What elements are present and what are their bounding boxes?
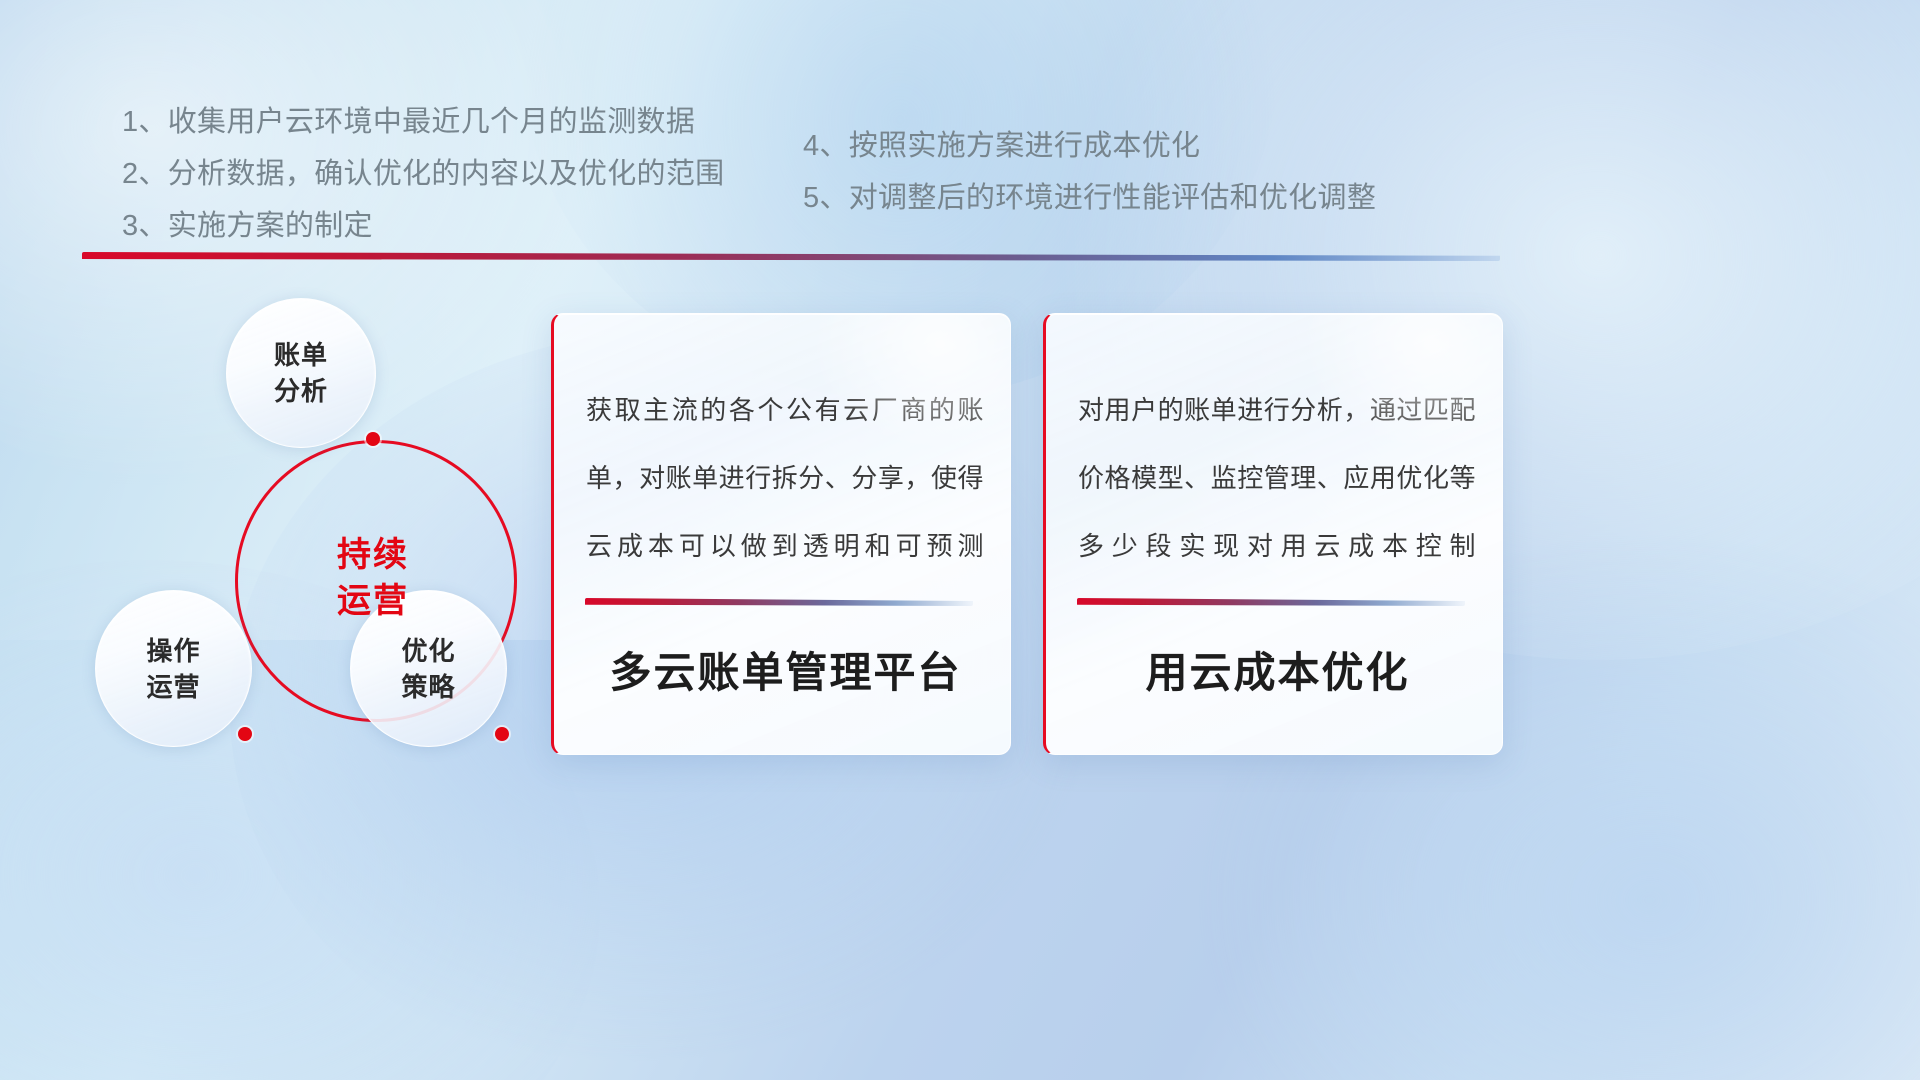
slide-canvas: 1、收集用户云环境中最近几个月的监测数据 2、分析数据，确认优化的内容以及优化的… <box>0 0 1920 1080</box>
venn-node-dot-bottom-left <box>238 727 252 741</box>
step-item-5: 5、对调整后的环境进行性能评估和优化调整 <box>803 172 1376 224</box>
section-divider <box>82 252 1500 261</box>
venn-diagram: 账单 分析 操作 运营 优化 策略 持续 运营 <box>80 286 520 766</box>
venn-bubble-label-line2: 分析 <box>274 373 328 409</box>
venn-bubble-label: 账单 分析 <box>274 337 328 409</box>
feature-card-multicloud-billing[interactable]: 获取主流的各个公有云厂商的账单，对账单进行拆分、分享，使得云成本可以做到透明和可… <box>551 313 1011 755</box>
venn-bubble-operations[interactable]: 操作 运营 <box>95 590 252 747</box>
feature-card-cost-optimization[interactable]: 对用户的账单进行分析，通过匹配价格模型、监控管理、应用优化等多少段实现对用云成本… <box>1043 313 1503 755</box>
steps-column-right: 4、按照实施方案进行成本优化 5、对调整后的环境进行性能评估和优化调整 <box>803 120 1376 224</box>
venn-bubble-label-line1: 账单 <box>274 337 328 373</box>
venn-center-label-line2: 运营 <box>337 578 409 624</box>
feature-card-rule <box>585 598 973 606</box>
venn-bubble-billing-analysis[interactable]: 账单 分析 <box>226 298 376 448</box>
steps-column-left: 1、收集用户云环境中最近几个月的监测数据 2、分析数据，确认优化的内容以及优化的… <box>122 96 724 252</box>
feature-card-rule <box>1077 598 1465 606</box>
venn-bubble-label-line2: 运营 <box>146 669 200 705</box>
venn-center-label: 持续 运营 <box>235 440 511 716</box>
venn-center-label-line1: 持续 <box>337 532 409 578</box>
feature-card-title: 用云成本优化 <box>1077 644 1478 702</box>
step-item-2: 2、分析数据，确认优化的内容以及优化的范围 <box>122 148 724 200</box>
feature-card-body: 对用户的账单进行分析，通过匹配价格模型、监控管理、应用优化等多少段实现对用云成本… <box>1078 376 1476 580</box>
feature-card-body: 获取主流的各个公有云厂商的账单，对账单进行拆分、分享，使得云成本可以做到透明和可… <box>586 376 984 580</box>
venn-bubble-label: 操作 运营 <box>146 633 200 705</box>
step-item-4: 4、按照实施方案进行成本优化 <box>803 120 1376 172</box>
venn-node-dot-bottom-right <box>495 727 509 741</box>
step-item-1: 1、收集用户云环境中最近几个月的监测数据 <box>122 96 724 148</box>
feature-card-title: 多云账单管理平台 <box>585 644 986 702</box>
venn-bubble-label-line1: 操作 <box>146 633 200 669</box>
divider-bar <box>82 252 1500 261</box>
step-item-3: 3、实施方案的制定 <box>122 200 724 252</box>
venn-node-dot-top <box>366 432 380 446</box>
